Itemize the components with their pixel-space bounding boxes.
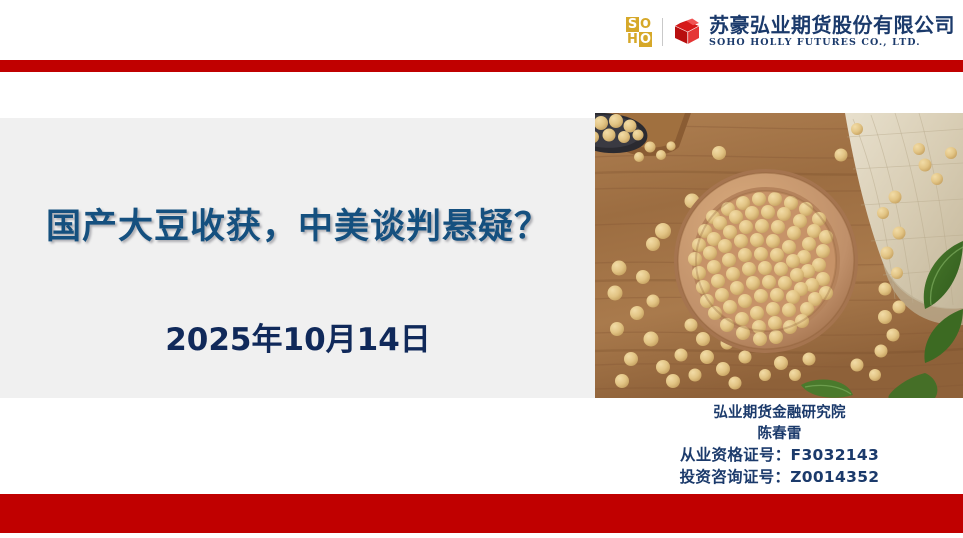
presenter-name: 陈春雷 [596,424,963,445]
presenter-organization: 弘业期货金融研究院 [596,403,963,424]
slide-header: S O H O [0,0,963,60]
slide-date: 2025年10月14日 [0,314,596,359]
presentation-slide: S O H O [0,0,963,538]
footer-white-edge [0,533,963,538]
title-panel: 国产大豆收获，中美谈判悬疑？ 2025年10月14日 [0,118,596,398]
header-red-rule [0,60,963,72]
monogram-letter-o2: O [639,32,652,47]
company-logo[interactable]: S O H O [626,12,955,52]
logo-divider [662,18,663,46]
practitioner-certificate-number: 从业资格证号：F3032143 [596,444,963,466]
red-cube-icon [672,17,702,47]
company-name-cn: 苏豪弘业期货股份有限公司 [709,15,955,36]
monogram-letter-o1: O [639,17,652,32]
page-title: 国产大豆收获，中美谈判悬疑？ [0,198,596,249]
monogram-letter-s: S [626,17,639,32]
company-name-en: SOHO HOLLY FUTURES CO., LTD. [709,37,921,48]
presenter-info: 弘业期货金融研究院 陈春雷 从业资格证号：F3032143 投资咨询证号：Z00… [596,403,963,488]
investment-advisory-certificate-number: 投资咨询证号：Z0014352 [596,466,963,488]
monogram-letter-h: H [626,32,639,47]
soybeans-in-wooden-bowl-photo [595,113,963,398]
logo-wordmark: 苏豪弘业期货股份有限公司 SOHO HOLLY FUTURES CO., LTD… [709,15,955,48]
footer-red-band [0,494,963,533]
soho-monogram-icon: S O H O [626,17,652,47]
